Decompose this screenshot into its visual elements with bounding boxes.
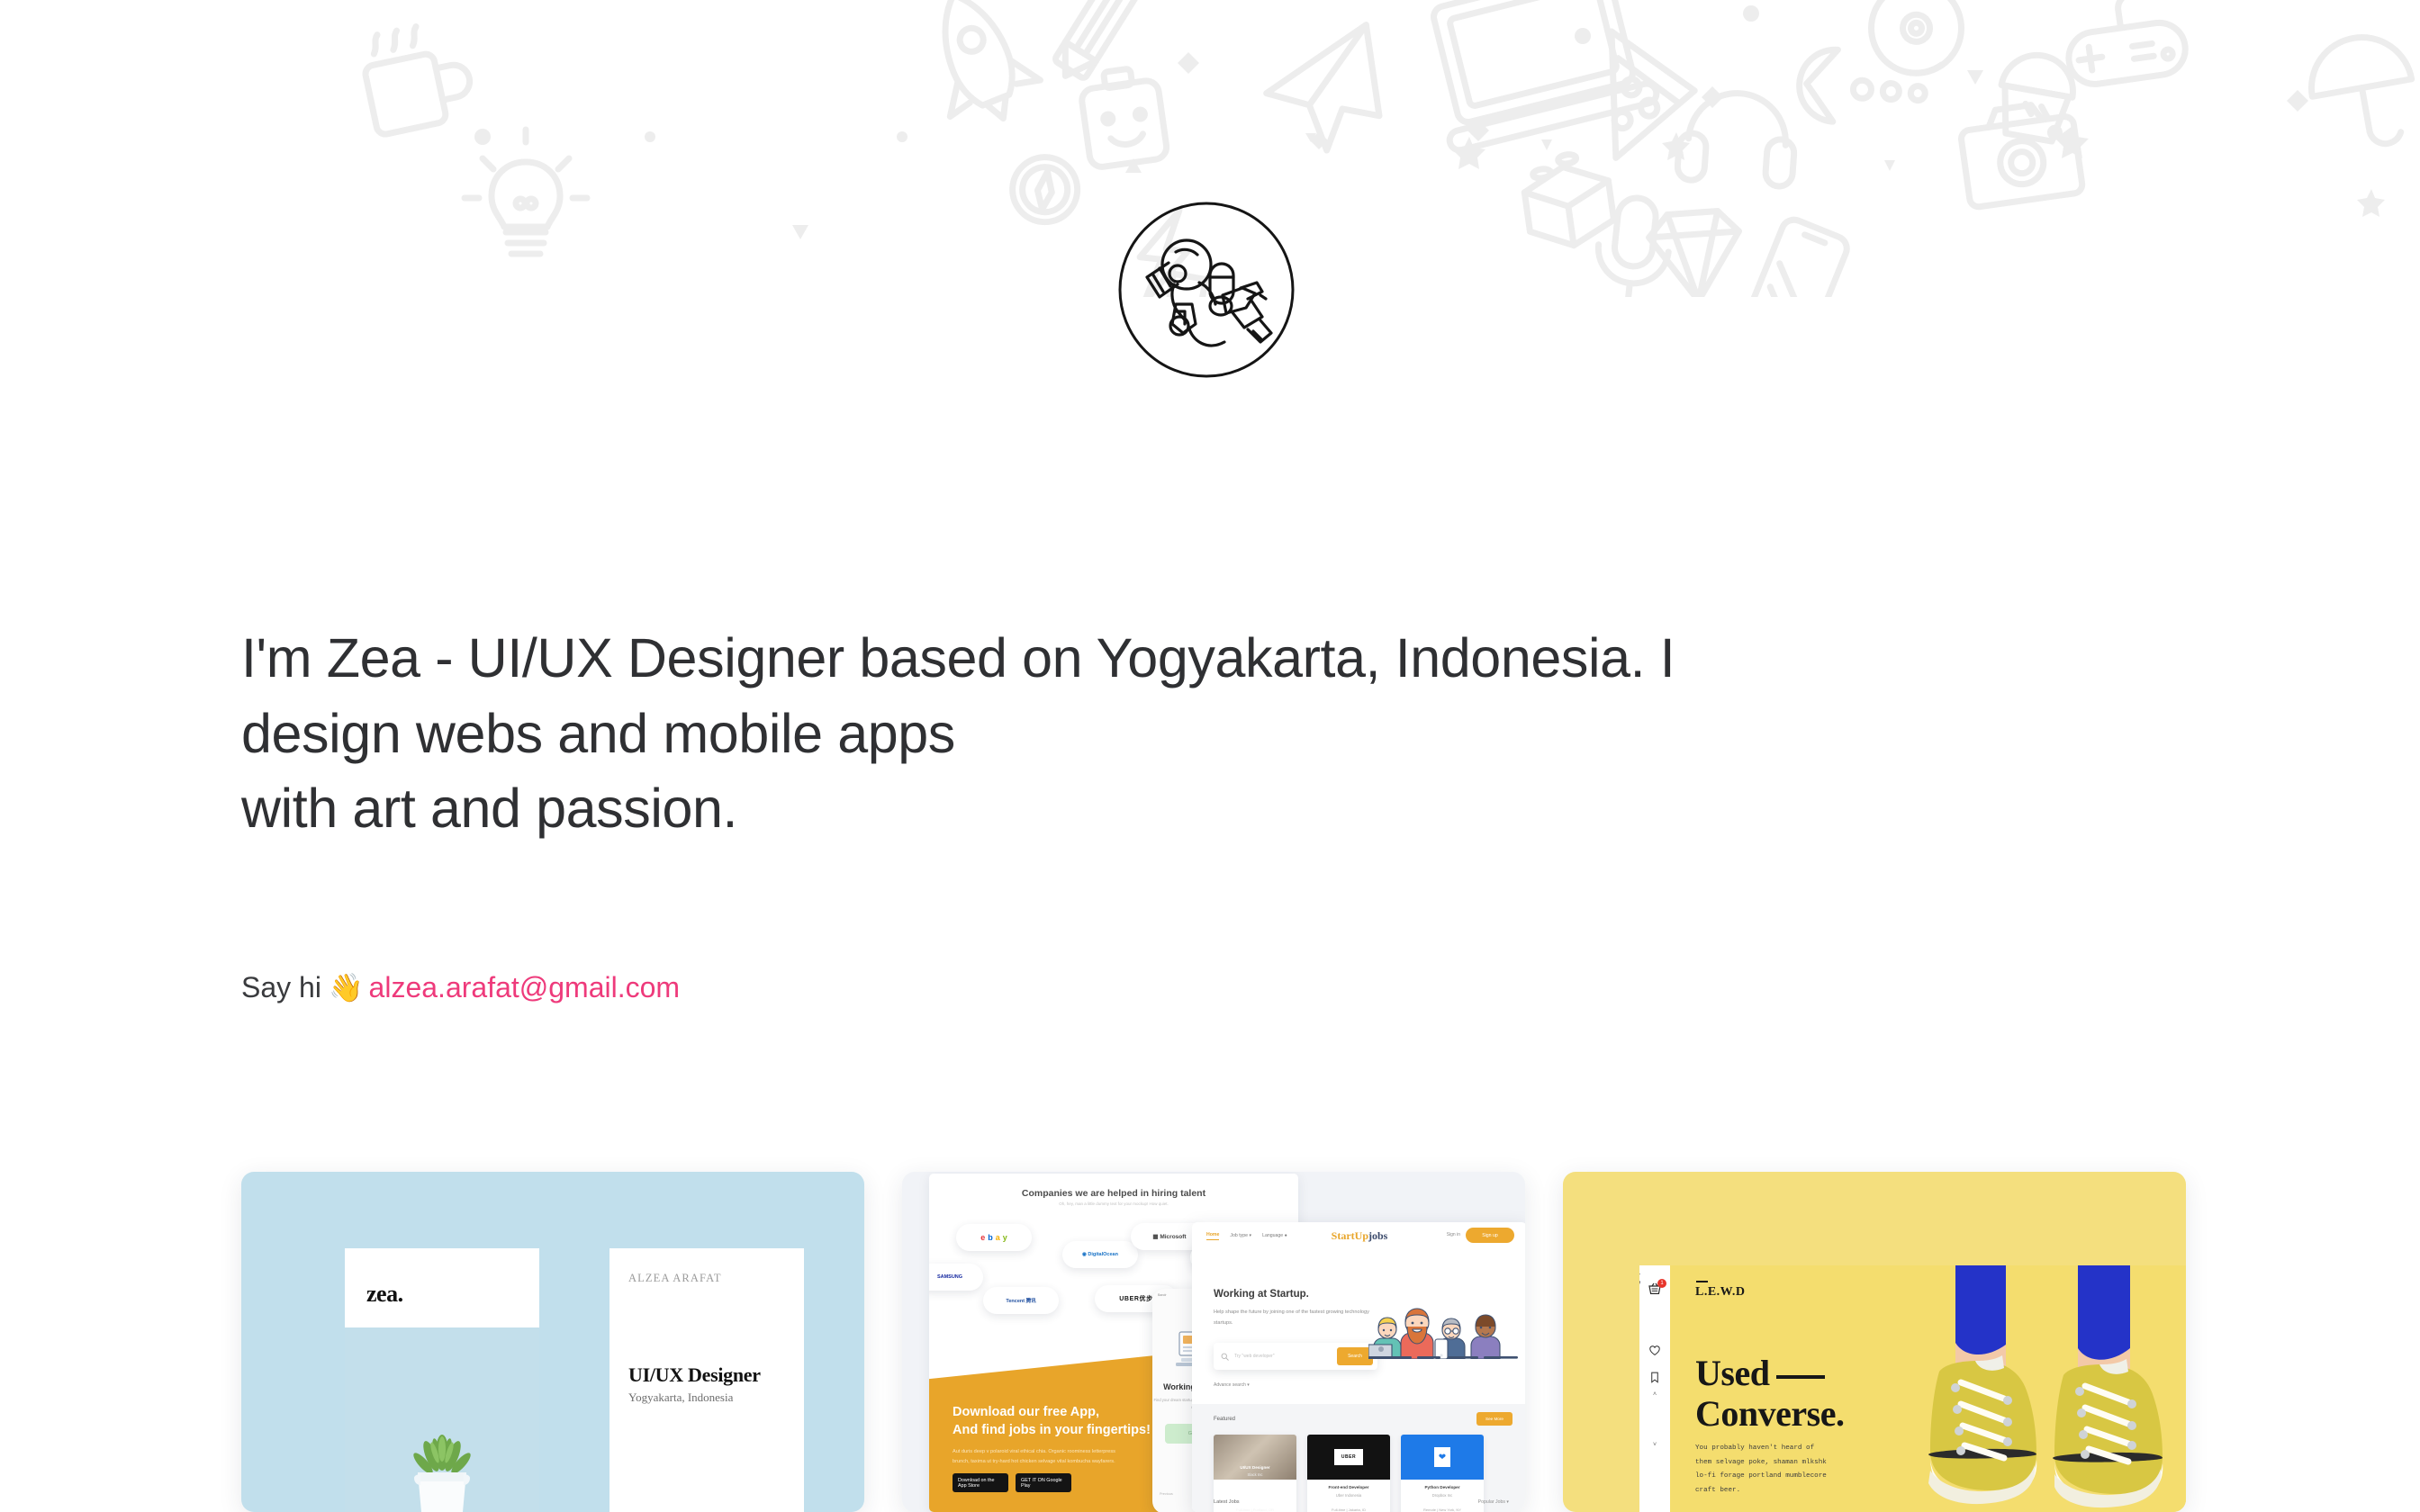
headline-line-1: I'm Zea - UI/UX Designer based on Yogyak… <box>241 621 2132 697</box>
owner-location: Yogyakarta, Indonesia <box>628 1390 733 1405</box>
owner-role: UI/UX Designer <box>628 1363 761 1387</box>
headline-line-3: with art and passion. <box>241 771 2132 847</box>
pencil-icon <box>1050 0 1138 85</box>
product-description: You probably haven't heard of them selva… <box>1695 1442 1830 1498</box>
sign-up-button[interactable]: Sign up <box>1466 1228 1514 1243</box>
say-hi-label: Say hi <box>241 970 321 1004</box>
page-headline: I'm Zea - UI/UX Designer based on Yogyak… <box>241 621 2132 847</box>
logo-chip-ebay: ebay <box>956 1224 1032 1251</box>
headphones-icon <box>1676 89 1798 187</box>
succulent-plant-icon <box>403 1426 481 1512</box>
rocket-icon <box>908 0 1049 137</box>
job-title-2: Front-end Developer <box>1307 1485 1390 1489</box>
job-company-1: Slack Inc <box>1214 1472 1296 1477</box>
store-brand-logo: L.E.W.D <box>1695 1285 1746 1300</box>
job-title-1: UI/UX Designer <box>1214 1465 1296 1470</box>
shopping-basket-icon[interactable]: 1 <box>1648 1282 1662 1296</box>
job-meta-1: Full-time | Portland, OR <box>1214 1507 1296 1512</box>
job-meta-3: Remote | New York, NY <box>1401 1507 1484 1512</box>
chevron-down-icon[interactable]: ˅ <box>1653 1442 1657 1448</box>
search-button[interactable]: Search <box>1337 1347 1373 1365</box>
pager-prev[interactable]: Previous <box>1160 1492 1173 1496</box>
job-meta-2: Full-time | Jakarta, ID <box>1307 1507 1390 1512</box>
lego-head-icon <box>1079 65 1169 168</box>
astronaut-circle-logo[interactable] <box>1116 200 1296 380</box>
business-card-back: ALZEA ARAFAT UI/UX Designer Yogyakarta, … <box>610 1248 804 1512</box>
lightbulb-icon <box>465 130 587 254</box>
status-carrier: Bandr <box>1158 1293 1167 1299</box>
product-title: Used Converse. <box>1695 1354 1844 1435</box>
project-card-startupjobs[interactable]: Companies we are helped in hiring talent… <box>902 1172 1525 1512</box>
webapp-hero-title: Working at Startup. <box>1214 1289 1309 1300</box>
bookmark-icon[interactable] <box>1650 1372 1660 1383</box>
chevron-up-icon[interactable]: ˄ <box>1653 1391 1657 1398</box>
webapp-brand-logo[interactable]: StartUpjobs <box>1332 1229 1388 1243</box>
see-more-button[interactable]: See More <box>1476 1412 1512 1426</box>
diamond-icon <box>1648 210 1744 297</box>
succulent-photo <box>345 1327 539 1512</box>
camera-icon <box>1958 99 2083 208</box>
advanced-search-toggle[interactable]: Advance search ▾ <box>1214 1382 1250 1388</box>
business-card-front: zea. <box>345 1248 539 1512</box>
logo-chip-samsung: SAMSUNG <box>929 1264 983 1291</box>
nav-item-language[interactable]: Language ● <box>1262 1233 1287 1238</box>
slide-pagination: 1 / 4 <box>1639 1265 1643 1284</box>
umbrella-icon <box>2304 30 2420 156</box>
logo-chip-digitalocean: ◉ DigitalOcean <box>1062 1241 1138 1268</box>
gamepad-icon <box>2061 0 2189 87</box>
email-link[interactable]: alzea.arafat@gmail.com <box>369 970 681 1004</box>
portfolio-page: I'm Zea - UI/UX Designer based on Yogyak… <box>0 0 2420 1512</box>
waving-hand-icon: 👋 <box>329 974 364 1002</box>
heart-icon[interactable] <box>1649 1345 1661 1356</box>
job-thumbnail-uber: UBER <box>1307 1435 1390 1480</box>
featured-jobs-section: Featured See More UI/UX Designer Slack I… <box>1192 1404 1525 1512</box>
latest-jobs-label: Latest Jobs <box>1214 1499 1240 1505</box>
laptop-icon <box>1417 0 1658 152</box>
project-card-branding[interactable]: zea. <box>241 1172 864 1512</box>
nav-item-job-type[interactable]: Job type ▾ <box>1230 1233 1251 1238</box>
job-company-3: Dropbox Inc <box>1401 1493 1484 1498</box>
search-input[interactable]: Try "web developer" <box>1234 1354 1275 1359</box>
brand-logotype: zea. <box>366 1281 403 1308</box>
sign-in-link[interactable]: Sign in <box>1447 1232 1460 1237</box>
nav-item-home[interactable]: Home <box>1206 1232 1219 1240</box>
job-company-2: Uber Indonesia <box>1307 1493 1390 1498</box>
pizza-icon <box>1575 31 1704 175</box>
project-cards-row: zea. <box>241 1172 2186 1512</box>
job-thumbnail-dropbox: ❤ <box>1401 1435 1484 1480</box>
promo-body: Aut duris deep v polaroid viral ethical … <box>953 1447 1133 1466</box>
lego-brick-icon <box>1520 149 1616 251</box>
job-card-2[interactable]: UBER Front-end Developer Uber Indonesia … <box>1307 1435 1390 1512</box>
smartphone-icon <box>1738 216 1850 297</box>
logo-chip-tencent: Tencent 腾讯 <box>983 1287 1059 1314</box>
companies-section-title: Companies we are helped in hiring talent <box>929 1188 1298 1199</box>
search-icon <box>1221 1353 1229 1361</box>
google-play-badge[interactable]: GET IT ON Google Play <box>1016 1473 1071 1492</box>
converse-sneakers-photo <box>1889 1265 2186 1512</box>
job-search-box[interactable]: Try "web developer" Search <box>1214 1343 1377 1370</box>
lewd-product-page-mockup: 1 ˄ 1 / 4 ˅ L.E.W.D Used Converse. <box>1639 1265 2186 1512</box>
popular-jobs-filter[interactable]: Popular Jobs ▾ <box>1478 1499 1509 1505</box>
webapp-hero-body: Help shape the future by joining one of … <box>1214 1308 1371 1328</box>
featured-label: Featured <box>1214 1417 1235 1422</box>
cart-count-badge: 1 <box>1657 1279 1666 1288</box>
paper-plane-icon <box>1260 24 1382 156</box>
product-sidebar-rail: 1 ˄ 1 / 4 ˅ <box>1639 1265 1670 1512</box>
team-illustration <box>1368 1300 1518 1359</box>
cupcake-icon <box>1993 49 2079 143</box>
confetti-shapes <box>474 5 2385 239</box>
contact-line: Say hi 👋 alzea.arafat@gmail.com <box>241 970 680 1004</box>
job-card-3[interactable]: ❤ Python Developer Dropbox Inc Remote | … <box>1401 1435 1484 1512</box>
owner-name: ALZEA ARAFAT <box>628 1272 722 1285</box>
coffee-mug-icon <box>358 18 477 136</box>
title-dash <box>1776 1375 1825 1379</box>
compass-icon <box>1008 153 1081 226</box>
project-card-lewd-store[interactable]: 1 ˄ 1 / 4 ˅ L.E.W.D Used Converse. <box>1563 1172 2186 1512</box>
cd-disc-icon <box>1863 0 1970 82</box>
promo-title: Download our free App, And find jobs in … <box>953 1404 1160 1439</box>
job-title-3: Python Developer <box>1401 1485 1484 1489</box>
microphone-icon <box>1592 194 1674 297</box>
headline-line-2: design webs and mobile apps <box>241 697 2132 772</box>
app-store-badge[interactable]: Download on the App Store <box>953 1473 1008 1492</box>
startupjobs-webapp-mockup: Home Job type ▾ Language ● StartUpjobs S… <box>1192 1222 1525 1512</box>
promo-banner: Download our free App, And find jobs in … <box>929 1354 1172 1512</box>
pacman-icon <box>1797 48 1928 129</box>
companies-section-subtitle: Oh, hey, man a little dummy text for you… <box>929 1201 1298 1206</box>
